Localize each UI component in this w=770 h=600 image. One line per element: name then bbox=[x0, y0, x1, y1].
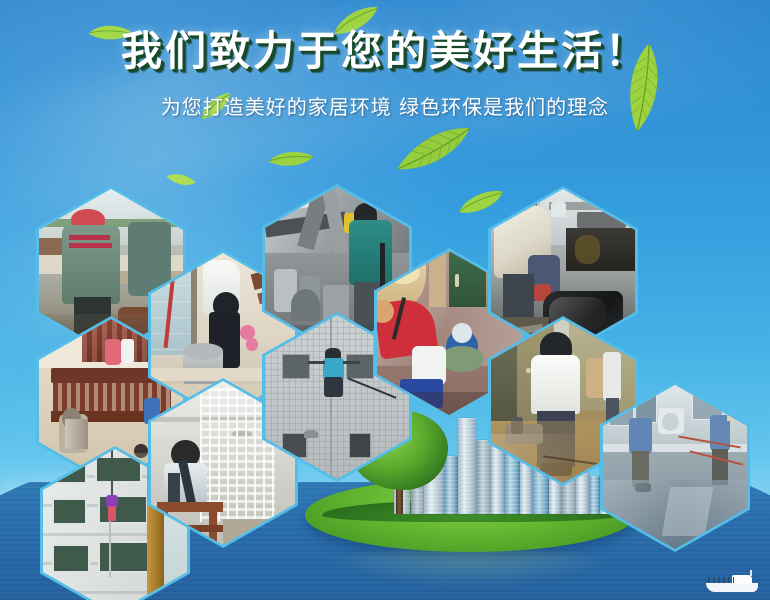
leaf-icon bbox=[266, 143, 316, 174]
page-title: 我们致力于您的美好生活！ bbox=[121, 28, 649, 74]
sky-light-streak bbox=[242, 0, 770, 173]
island-reflection bbox=[320, 548, 620, 588]
leaf-icon bbox=[386, 112, 480, 186]
headline-container: 我们致力于您的美好生活！ bbox=[0, 28, 770, 74]
leaf-icon bbox=[455, 187, 508, 218]
promo-banner: 我们致力于您的美好生活！ 为您打造美好的家居环境 绿色环保是我们的理念 bbox=[0, 0, 770, 600]
boat bbox=[706, 572, 758, 592]
subline-container: 为您打造美好的家居环境 绿色环保是我们的理念 bbox=[0, 94, 770, 120]
leaf-icon bbox=[164, 166, 197, 194]
page-subtitle: 为您打造美好的家居环境 绿色环保是我们的理念 bbox=[161, 94, 609, 120]
